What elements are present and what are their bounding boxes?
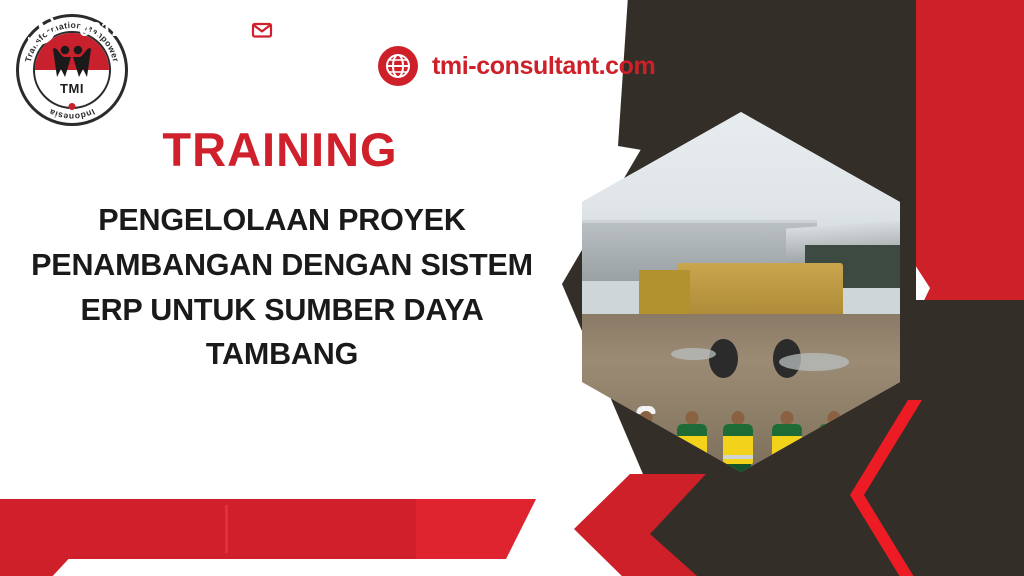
- footer-divider: [225, 505, 228, 553]
- photo-worker-torso: [582, 424, 605, 464]
- contact-email[interactable]: tmi.konsultan@gmail.com: [243, 11, 538, 49]
- footer-highlight: [416, 499, 536, 559]
- website-row[interactable]: tmi-consultant.com: [378, 46, 655, 86]
- email-label: tmi.konsultan@gmail.com: [294, 19, 538, 42]
- whatsapp-icon: [28, 11, 66, 49]
- photo-truck-wheel: [709, 339, 738, 379]
- logo-people-icon: [49, 43, 95, 83]
- photo-worker-head: [686, 411, 699, 425]
- promotional-banner: Transformation Manpower Indonesia TMI tm…: [0, 0, 1024, 576]
- phone-label: 0812 3996 3897: [79, 19, 221, 42]
- photo-worker-collar: [723, 424, 753, 436]
- logo-red-dot: [69, 103, 76, 110]
- envelope-icon: [243, 11, 281, 49]
- photo-hard-hat: [582, 406, 598, 414]
- photo-worker-legs: [582, 464, 601, 472]
- photo-worker-collar: [677, 424, 707, 436]
- contact-phone[interactable]: 0812 3996 3897: [28, 11, 221, 49]
- photo-worker-head: [732, 411, 745, 425]
- logo-monogram: TMI: [16, 81, 128, 96]
- photo-worker-collar: [772, 424, 802, 436]
- photo-worker-head: [781, 411, 794, 425]
- photo-worker-hi-vis-stripe: [723, 455, 753, 459]
- website-label: tmi-consultant.com: [432, 52, 655, 81]
- photo-worker-collar: [582, 424, 603, 436]
- eyebrow-heading: TRAINING: [0, 122, 560, 177]
- photo-worker-head: [582, 411, 595, 425]
- page-title: PENGELOLAAN PROYEK PENAMBANGAN DENGAN SI…: [22, 198, 542, 377]
- contact-footer-bar: [0, 499, 536, 559]
- globe-icon: [378, 46, 418, 86]
